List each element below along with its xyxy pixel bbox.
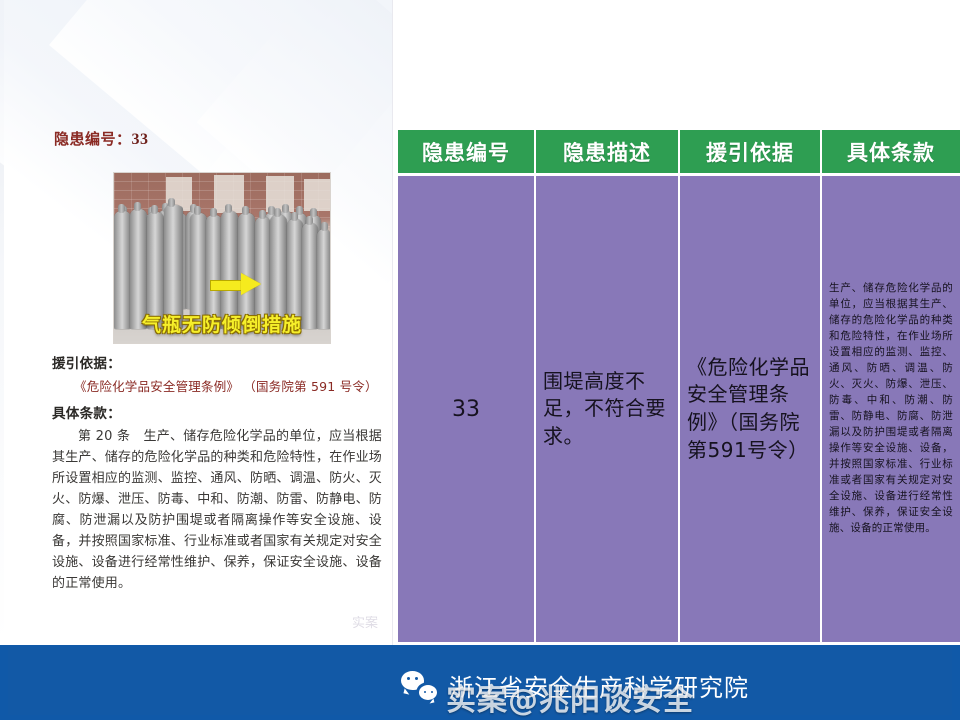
slide-watermark: 实案	[352, 612, 378, 631]
slide-title: 隐患编号：33	[54, 128, 149, 149]
right-arrow-icon	[210, 275, 262, 293]
table-header-row: 隐患编号 隐患描述 援引依据 具体条款	[398, 130, 960, 173]
left-slide-panel: 隐患编号：33	[0, 0, 393, 645]
cell-hazard-clause: 生产、储存危险化学品的单位，应当根据其生产、储存的危险化学品的种类和危险特性，在…	[822, 275, 960, 542]
table-header-code: 隐患编号	[398, 130, 536, 173]
table-header-clause: 具体条款	[822, 130, 960, 173]
table-row: 33 围堤高度不足，不符合要求。 《危险化学品安全管理条例》（国务院第591号令…	[398, 173, 960, 642]
reference-text: 《危险化学品安全管理条例》 （国务院第 591 号令）	[74, 376, 382, 395]
cell-hazard-description: 围堤高度不足，不符合要求。	[536, 176, 680, 642]
wall-window-4	[304, 179, 330, 211]
cell-hazard-reference: 《危险化学品安全管理条例》（国务院第591号令）	[680, 176, 822, 642]
decorative-edge-stripe	[0, 0, 4, 645]
bottom-banner: 浙江省安全生产科学研究院	[0, 645, 960, 720]
slide-body-text: 援引依据： 《危险化学品安全管理条例》 （国务院第 591 号令） 具体条款： …	[52, 352, 382, 594]
hazard-table: 隐患编号 隐患描述 援引依据 具体条款 33 围堤高度不足，不符合要求。 《危险…	[398, 130, 960, 642]
hazard-photo: 气瓶无防倾倒措施	[113, 172, 331, 344]
slide-title-number: 33	[132, 131, 149, 148]
slide-title-label: 隐患编号：	[54, 130, 132, 148]
banner-inner: 浙江省安全生产科学研究院	[8, 647, 952, 715]
clause-text: 第 20 条 生产、储存危险化学品的单位，应当根据其生产、储存的危险化学品的种类…	[52, 426, 382, 594]
banner-title: 浙江省安全生产科学研究院	[449, 668, 749, 703]
banner-content: 浙江省安全生产科学研究院	[401, 668, 749, 703]
table-header-description: 隐患描述	[536, 130, 680, 173]
slide-canvas: 隐患编号：33	[0, 0, 960, 720]
cell-hazard-code: 33	[398, 176, 536, 642]
clause-label: 具体条款：	[52, 402, 382, 422]
wechat-icon	[401, 670, 437, 700]
table-header-reference: 援引依据	[680, 130, 822, 173]
photo-caption: 气瓶无防倾倒措施	[114, 310, 330, 337]
reference-label: 援引依据：	[52, 352, 382, 372]
